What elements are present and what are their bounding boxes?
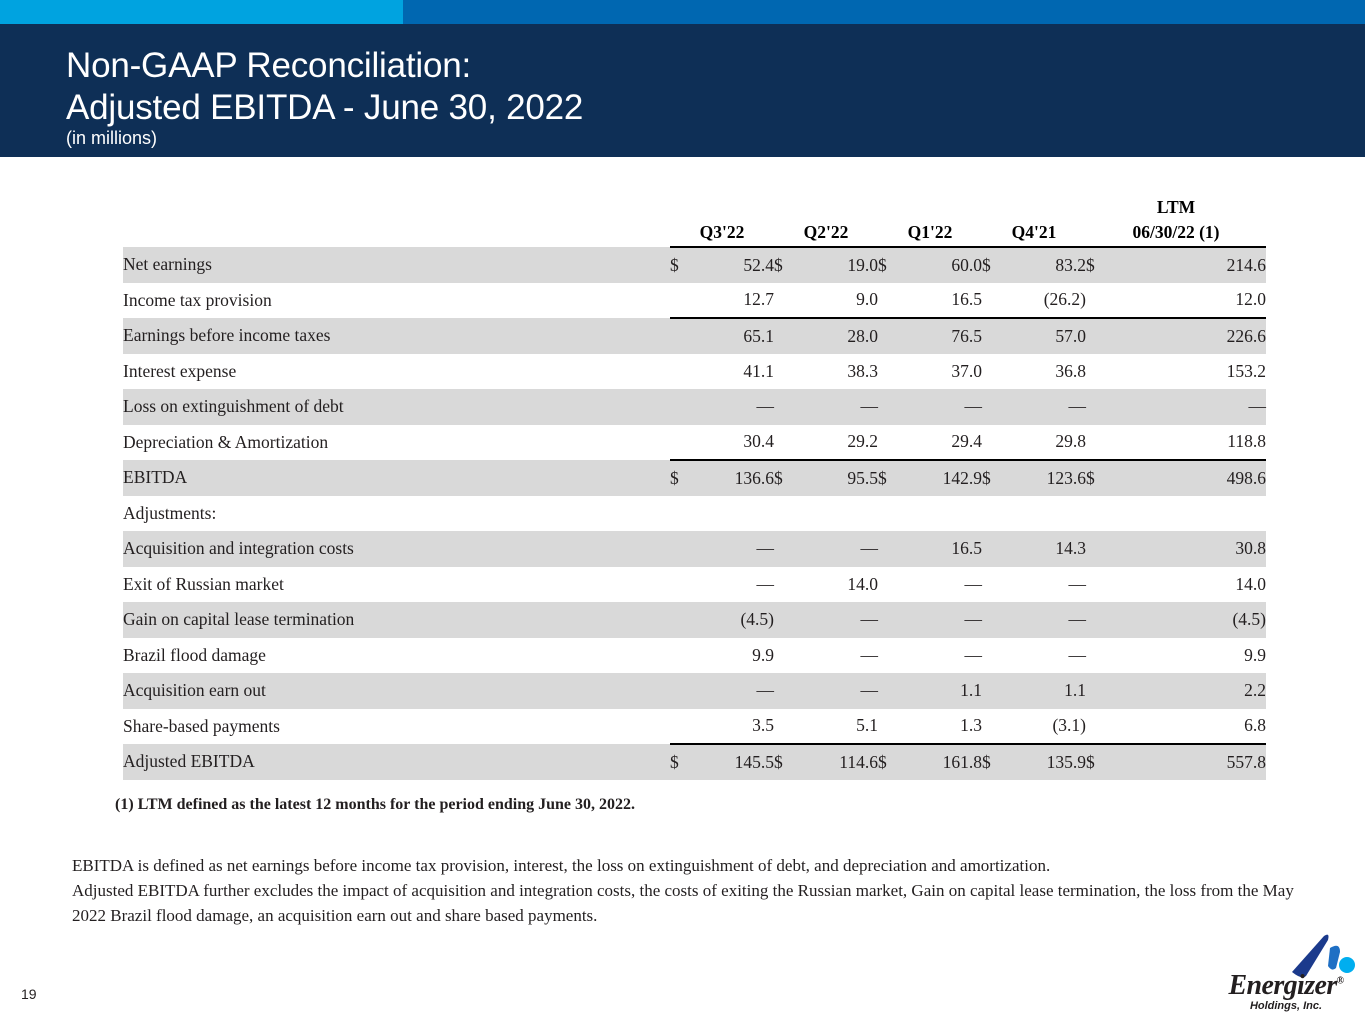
row-currency-symbol [982, 318, 1010, 354]
row-value: 41.1 [698, 354, 774, 390]
row-currency-symbol [1086, 531, 1114, 567]
table-row: Income tax provision12.79.016.5(26.2)12.… [123, 283, 1266, 319]
row-value: — [802, 389, 878, 425]
row-value: 123.6 [1010, 460, 1086, 496]
table-row: Loss on extinguishment of debt————— [123, 389, 1266, 425]
row-value: 498.6 [1114, 460, 1266, 496]
row-value: 30.8 [1114, 531, 1266, 567]
row-currency-symbol [670, 567, 698, 603]
row-value: 95.5 [802, 460, 878, 496]
row-currency-symbol [670, 531, 698, 567]
row-currency-symbol [774, 567, 802, 603]
row-value: 37.0 [906, 354, 982, 390]
header-q2-22: Q2'22 [774, 221, 878, 247]
row-currency-symbol: $ [1086, 247, 1114, 283]
row-currency-symbol [670, 425, 698, 461]
registered-trademark-icon: ® [1337, 976, 1344, 987]
row-currency-symbol [670, 709, 698, 745]
row-value [1010, 496, 1086, 532]
table-row: Acquisition and integration costs——16.51… [123, 531, 1266, 567]
row-currency-symbol: $ [878, 744, 906, 780]
row-value: 16.5 [906, 283, 982, 319]
row-label: Exit of Russian market [123, 567, 670, 603]
row-currency-symbol [1086, 567, 1114, 603]
row-value: — [802, 602, 878, 638]
row-value: 6.8 [1114, 709, 1266, 745]
row-value: 214.6 [1114, 247, 1266, 283]
row-currency-symbol [670, 389, 698, 425]
row-label: Net earnings [123, 247, 670, 283]
row-value: — [1010, 567, 1086, 603]
row-currency-symbol: $ [982, 744, 1010, 780]
row-value: 30.4 [698, 425, 774, 461]
ebitda-reconciliation-table: LTM Q3'22 Q2'22 Q1'22 Q4'21 06/30/22 (1)… [123, 196, 1266, 780]
row-value: 28.0 [802, 318, 878, 354]
table-row: Gain on capital lease termination(4.5)——… [123, 602, 1266, 638]
row-value: 118.8 [1114, 425, 1266, 461]
row-value [698, 496, 774, 532]
page-number: 19 [21, 986, 37, 1002]
row-label: Adjusted EBITDA [123, 744, 670, 780]
table-row: Interest expense41.138.337.036.8153.2 [123, 354, 1266, 390]
row-currency-symbol [1086, 389, 1114, 425]
row-currency-symbol: $ [878, 460, 906, 496]
row-value: 145.5 [698, 744, 774, 780]
row-value: (4.5) [698, 602, 774, 638]
table-row: Adjusted EBITDA$145.5$114.6$161.8$135.9$… [123, 744, 1266, 780]
row-currency-symbol: $ [1086, 460, 1114, 496]
row-value: 1.1 [906, 673, 982, 709]
row-currency-symbol [982, 602, 1010, 638]
row-value [1114, 496, 1266, 532]
row-currency-symbol: $ [774, 460, 802, 496]
table-header: LTM Q3'22 Q2'22 Q1'22 Q4'21 06/30/22 (1) [123, 196, 1266, 247]
row-value: 153.2 [1114, 354, 1266, 390]
row-label: Income tax provision [123, 283, 670, 319]
row-value: — [906, 638, 982, 674]
definition-paragraph-2: Adjusted EBITDA further excludes the imp… [72, 878, 1312, 928]
row-value: 29.2 [802, 425, 878, 461]
row-value: — [906, 602, 982, 638]
row-value: 29.4 [906, 425, 982, 461]
header-q4-21-spacer [982, 196, 1086, 221]
table-row: Earnings before income taxes65.128.076.5… [123, 318, 1266, 354]
row-value: 226.6 [1114, 318, 1266, 354]
row-currency-symbol [774, 496, 802, 532]
row-currency-symbol [878, 318, 906, 354]
row-value: 19.0 [802, 247, 878, 283]
row-label: Loss on extinguishment of debt [123, 389, 670, 425]
row-currency-symbol [982, 389, 1010, 425]
row-value: — [802, 531, 878, 567]
table-row: EBITDA$136.6$95.5$142.9$123.6$498.6 [123, 460, 1266, 496]
row-currency-symbol: $ [774, 247, 802, 283]
row-currency-symbol [1086, 638, 1114, 674]
row-currency-symbol [774, 638, 802, 674]
row-value: 12.7 [698, 283, 774, 319]
row-value: 14.0 [1114, 567, 1266, 603]
row-value [802, 496, 878, 532]
row-value: 12.0 [1114, 283, 1266, 319]
row-currency-symbol [982, 425, 1010, 461]
row-value: 557.8 [1114, 744, 1266, 780]
row-value: — [698, 531, 774, 567]
row-value: — [802, 673, 878, 709]
row-value: 1.1 [1010, 673, 1086, 709]
row-currency-symbol [1086, 709, 1114, 745]
table-body: Net earnings$52.4$19.0$60.0$83.2$214.6In… [123, 247, 1266, 780]
row-value: 60.0 [906, 247, 982, 283]
row-currency-symbol [982, 673, 1010, 709]
row-currency-symbol [982, 638, 1010, 674]
row-value [906, 496, 982, 532]
header-q4-21: Q4'21 [982, 221, 1086, 247]
row-currency-symbol [878, 389, 906, 425]
row-currency-symbol [670, 354, 698, 390]
table-row: Net earnings$52.4$19.0$60.0$83.2$214.6 [123, 247, 1266, 283]
row-label: Acquisition and integration costs [123, 531, 670, 567]
table-row: Share-based payments3.55.11.3(3.1)6.8 [123, 709, 1266, 745]
row-currency-symbol [670, 638, 698, 674]
definition-block: EBITDA is defined as net earnings before… [72, 853, 1312, 928]
row-value: (3.1) [1010, 709, 1086, 745]
header-q3-22: Q3'22 [670, 221, 774, 247]
header-q1-22-spacer [878, 196, 982, 221]
row-value: 14.3 [1010, 531, 1086, 567]
row-currency-symbol [982, 496, 1010, 532]
row-currency-symbol [982, 531, 1010, 567]
row-value: — [1114, 389, 1266, 425]
row-value: 29.8 [1010, 425, 1086, 461]
table-row: Brazil flood damage9.9———9.9 [123, 638, 1266, 674]
row-value: 76.5 [906, 318, 982, 354]
row-value: 9.9 [1114, 638, 1266, 674]
row-value: (4.5) [1114, 602, 1266, 638]
row-currency-symbol [878, 354, 906, 390]
row-value: 114.6 [802, 744, 878, 780]
row-label: Interest expense [123, 354, 670, 390]
row-currency-symbol [1086, 283, 1114, 319]
row-currency-symbol [774, 354, 802, 390]
row-label: Earnings before income taxes [123, 318, 670, 354]
row-currency-symbol [1086, 496, 1114, 532]
row-label: EBITDA [123, 460, 670, 496]
energizer-logo: Energizer® Holdings, Inc. [1216, 934, 1356, 1014]
row-currency-symbol [878, 531, 906, 567]
row-currency-symbol [774, 673, 802, 709]
header-q2-22-spacer [774, 196, 878, 221]
row-value: — [698, 673, 774, 709]
row-currency-symbol [878, 425, 906, 461]
header-ltm-line2: 06/30/22 (1) [1086, 221, 1266, 247]
row-value: 16.5 [906, 531, 982, 567]
energizer-sub-wordmark: Holdings, Inc. [1216, 1000, 1356, 1012]
row-value: — [1010, 602, 1086, 638]
row-value: 5.1 [802, 709, 878, 745]
row-label: Gain on capital lease termination [123, 602, 670, 638]
row-currency-symbol [878, 602, 906, 638]
row-value: 57.0 [1010, 318, 1086, 354]
row-currency-symbol [774, 602, 802, 638]
row-currency-symbol [878, 638, 906, 674]
header-ltm-line1: LTM [1086, 196, 1266, 221]
row-label: Share-based payments [123, 709, 670, 745]
row-currency-symbol [670, 673, 698, 709]
row-currency-symbol [1086, 318, 1114, 354]
row-currency-symbol [982, 709, 1010, 745]
row-value: 9.9 [698, 638, 774, 674]
row-currency-symbol: $ [982, 460, 1010, 496]
row-value: 3.5 [698, 709, 774, 745]
row-value: — [1010, 389, 1086, 425]
page-title-line-2: Adjusted EBITDA - June 30, 2022 [66, 88, 583, 128]
row-currency-symbol [982, 283, 1010, 319]
row-value: 136.6 [698, 460, 774, 496]
header-q1-22: Q1'22 [878, 221, 982, 247]
row-value: — [906, 567, 982, 603]
row-currency-symbol: $ [878, 247, 906, 283]
row-currency-symbol: $ [670, 744, 698, 780]
row-currency-symbol [878, 567, 906, 603]
row-currency-symbol: $ [774, 744, 802, 780]
top-accent-bar [0, 0, 1365, 24]
row-value: — [698, 389, 774, 425]
row-label: Adjustments: [123, 496, 670, 532]
row-value: 14.0 [802, 567, 878, 603]
row-currency-symbol [774, 318, 802, 354]
row-value: — [1010, 638, 1086, 674]
row-value: 36.8 [1010, 354, 1086, 390]
row-currency-symbol [670, 602, 698, 638]
row-label: Brazil flood damage [123, 638, 670, 674]
row-currency-symbol [774, 283, 802, 319]
title-banner: Non-GAAP Reconciliation: Adjusted EBITDA… [0, 24, 1365, 157]
row-value: 52.4 [698, 247, 774, 283]
row-currency-symbol [1086, 354, 1114, 390]
accent-band-light-blue [0, 0, 403, 24]
row-currency-symbol [982, 567, 1010, 603]
row-currency-symbol [774, 531, 802, 567]
row-currency-symbol [982, 354, 1010, 390]
page-subtitle-units: (in millions) [66, 128, 157, 149]
row-currency-symbol: $ [670, 247, 698, 283]
row-value: 65.1 [698, 318, 774, 354]
energizer-wordmark: Energizer® [1216, 970, 1356, 1002]
table-footnote: (1) LTM defined as the latest 12 months … [115, 796, 635, 814]
row-label: Depreciation & Amortization [123, 425, 670, 461]
row-currency-symbol: $ [1086, 744, 1114, 780]
row-value: — [802, 638, 878, 674]
row-currency-symbol [774, 709, 802, 745]
header-spacer [123, 196, 670, 221]
row-value: 83.2 [1010, 247, 1086, 283]
row-value: 38.3 [802, 354, 878, 390]
row-currency-symbol [878, 709, 906, 745]
table-row: Exit of Russian market—14.0——14.0 [123, 567, 1266, 603]
row-value: 142.9 [906, 460, 982, 496]
row-value: 161.8 [906, 744, 982, 780]
row-currency-symbol [878, 283, 906, 319]
row-value: — [906, 389, 982, 425]
definition-paragraph-1: EBITDA is defined as net earnings before… [72, 853, 1312, 878]
row-value: — [698, 567, 774, 603]
row-currency-symbol [670, 283, 698, 319]
header-row-label [123, 221, 670, 247]
header-q3-22-spacer [670, 196, 774, 221]
row-currency-symbol [1086, 602, 1114, 638]
row-currency-symbol [1086, 425, 1114, 461]
row-value: 135.9 [1010, 744, 1086, 780]
row-label: Acquisition earn out [123, 673, 670, 709]
table-row: Acquisition earn out——1.11.12.2 [123, 673, 1266, 709]
row-currency-symbol [774, 389, 802, 425]
accent-band-mid-blue [403, 0, 1365, 24]
row-currency-symbol: $ [982, 247, 1010, 283]
row-value: (26.2) [1010, 283, 1086, 319]
row-currency-symbol [878, 673, 906, 709]
page-title-line-1: Non-GAAP Reconciliation: [66, 46, 471, 86]
row-currency-symbol: $ [670, 460, 698, 496]
table-row: Depreciation & Amortization30.429.229.42… [123, 425, 1266, 461]
row-currency-symbol [670, 496, 698, 532]
row-currency-symbol [670, 318, 698, 354]
row-value: 1.3 [906, 709, 982, 745]
row-currency-symbol [878, 496, 906, 532]
row-currency-symbol [1086, 673, 1114, 709]
row-currency-symbol [774, 425, 802, 461]
table-row: Adjustments: [123, 496, 1266, 532]
row-value: 2.2 [1114, 673, 1266, 709]
row-value: 9.0 [802, 283, 878, 319]
